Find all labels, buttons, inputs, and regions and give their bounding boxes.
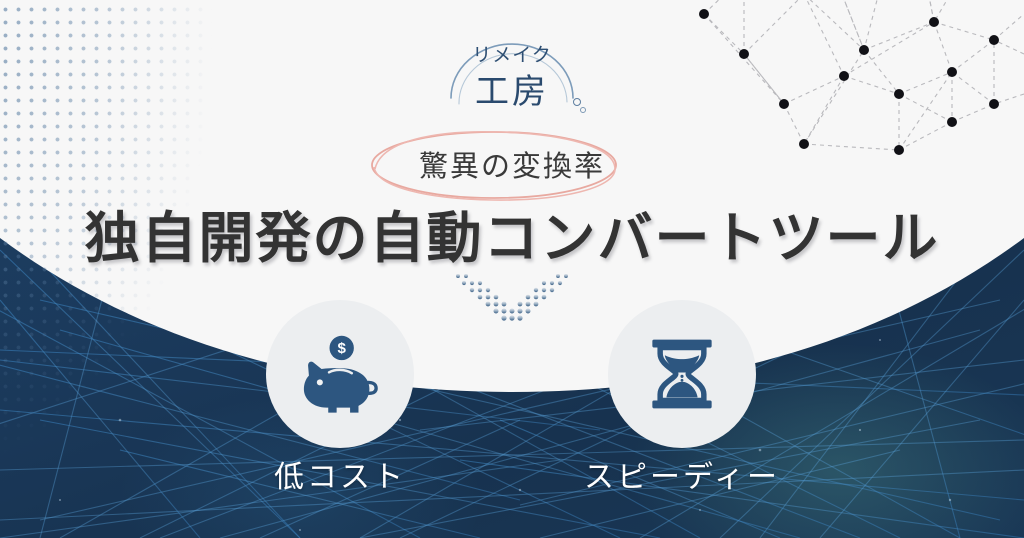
feature-label-low-cost: 低コスト	[220, 452, 460, 496]
feature-card-speedy[interactable]	[608, 300, 756, 448]
page-title: 独自開発の自動コンバートツール	[0, 193, 1024, 273]
logo-dot-large-icon	[573, 98, 581, 106]
logo-kana-text: リメイク	[437, 40, 587, 67]
feature-label-speedy: スピーディー	[562, 452, 802, 496]
feature-card-low-cost[interactable]: $	[266, 300, 414, 448]
hero-banner: リメイク 工房 驚異の変換率 独自開発の自動コンバートツール	[0, 0, 1024, 538]
logo-dot-small-icon	[580, 107, 586, 113]
halftone-chevron-down-icon	[454, 272, 570, 324]
logo-main-text: 工房	[437, 64, 587, 113]
sub-headline: 驚異の変換率	[419, 143, 605, 185]
brand-logo[interactable]: リメイク 工房	[0, 26, 1024, 122]
sub-headline-group: 驚異の変換率	[0, 136, 1024, 192]
coin-symbol: $	[337, 340, 346, 357]
hourglass-icon	[643, 335, 721, 413]
piggy-bank-icon: $	[298, 332, 382, 416]
